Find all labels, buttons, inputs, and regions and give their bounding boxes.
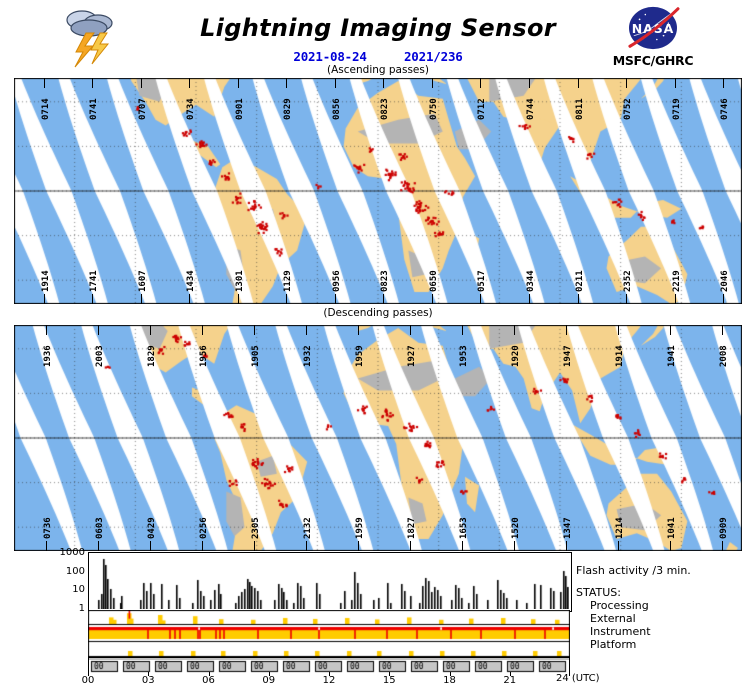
orbit-tick [514, 325, 515, 335]
nasa-branding: NASA MSFC/GHRC [598, 4, 708, 68]
legend-row-external: External [576, 612, 691, 625]
orbit-tick [578, 78, 579, 88]
orbit-time-label: 0429 [147, 517, 157, 539]
orbit-tick [44, 294, 45, 304]
legend-row-processing: Processing [576, 599, 691, 612]
ascending-passes-map[interactable]: 0714074107070734090108290856082307500712… [14, 78, 742, 304]
orbit-time-label: 2003 [95, 345, 105, 367]
platform-status-row[interactable] [88, 657, 570, 672]
orbit-time-label: 0829 [283, 98, 293, 120]
flash-activity-histogram[interactable] [88, 552, 572, 612]
orbit-tick [335, 78, 336, 88]
orbit-time-label: 0956 [332, 270, 342, 292]
orbit-tick [529, 78, 530, 88]
orbit-time-label: 0707 [138, 98, 148, 120]
orbit-time-label: 0741 [89, 98, 99, 120]
orbit-tick [383, 294, 384, 304]
time-axis-tick-label: 15 [383, 675, 396, 686]
orbit-time-label: 1936 [43, 345, 53, 367]
status-rows[interactable] [88, 610, 570, 657]
orbit-time-label: 0752 [623, 98, 633, 120]
orbit-time-label: 1914 [41, 270, 51, 292]
orbit-tick [626, 294, 627, 304]
orbit-time-label: 1653 [459, 517, 469, 539]
activity-panel: 1101001000 000306091215182124 Flash acti… [0, 548, 756, 680]
orbit-time-label: 0712 [477, 98, 487, 120]
orbit-time-label: 2008 [719, 345, 729, 367]
orbit-time-label: 0744 [526, 98, 536, 120]
descending-map-canvas[interactable] [14, 325, 742, 551]
orbit-tick [286, 78, 287, 88]
orbit-time-label: 0736 [43, 517, 53, 539]
orbit-tick [670, 325, 671, 335]
orbit-tick [675, 78, 676, 88]
orbit-tick [462, 325, 463, 335]
time-axis-tick-label: 21 [503, 675, 516, 686]
orbit-time-label: 1347 [563, 517, 573, 539]
orbit-tick [358, 325, 359, 335]
orbit-tick [675, 294, 676, 304]
observation-date: 2021-08-24 [293, 49, 366, 64]
orbit-time-label: 1434 [186, 270, 196, 292]
nasa-center-label: MSFC/GHRC [598, 53, 708, 68]
orbit-time-label: 1607 [138, 270, 148, 292]
orbit-time-label: 1914 [615, 345, 625, 367]
descending-passes-map[interactable]: 1936200318291956190519321959192719531920… [14, 325, 742, 551]
time-axis-tick-label: 12 [323, 675, 336, 686]
orbit-time-label: 0823 [380, 270, 390, 292]
orbit-tick [141, 294, 142, 304]
orbit-time-label: 0750 [429, 98, 439, 120]
orbit-tick [723, 294, 724, 304]
y-axis-tick-label: 10 [72, 584, 85, 595]
orbit-tick [722, 325, 723, 335]
legend-row-platform: Platform [576, 638, 691, 651]
y-axis-tick-label: 1 [79, 603, 85, 614]
time-axis-tick-label: 06 [202, 675, 215, 686]
status-canvas[interactable] [88, 610, 570, 657]
utc-axis-label: 24 (UTC) [556, 673, 600, 684]
orbit-time-label: 0811 [575, 98, 585, 120]
orbit-time-label: 1959 [355, 517, 365, 539]
orbit-time-label: 1932 [303, 345, 313, 367]
orbit-tick [238, 78, 239, 88]
time-axis-tick-label: 03 [142, 675, 155, 686]
orbit-tick [44, 78, 45, 88]
orbit-tick [286, 294, 287, 304]
orbit-time-label: 0909 [719, 517, 729, 539]
orbit-time-label: 1905 [251, 345, 261, 367]
orbit-time-label: 0719 [672, 98, 682, 120]
orbit-time-label: 2046 [720, 270, 730, 292]
orbit-tick [202, 325, 203, 335]
time-axis: 000306091215182124 [88, 672, 570, 686]
orbit-time-label: 1920 [511, 345, 521, 367]
orbit-tick [529, 294, 530, 304]
orbit-tick [723, 78, 724, 88]
orbit-tick [383, 78, 384, 88]
orbit-time-label: 0856 [332, 98, 342, 120]
nasa-logo-icon: NASA [624, 4, 682, 52]
orbit-tick [141, 78, 142, 88]
orbit-time-label: 2219 [672, 270, 682, 292]
orbit-time-label: 1953 [459, 345, 469, 367]
orbit-tick [480, 294, 481, 304]
orbit-time-label: 0650 [429, 270, 439, 292]
orbit-tick [189, 294, 190, 304]
panel-legend: Flash activity /3 min. STATUS: Processin… [576, 564, 691, 651]
time-axis-tick-label: 18 [443, 675, 456, 686]
orbit-time-label: 2132 [303, 517, 313, 539]
page-header: Lightning Imaging Sensor 2021-08-24 2021… [0, 0, 756, 78]
orbit-time-label: 0211 [575, 270, 585, 292]
orbit-tick [92, 294, 93, 304]
orbit-time-label: 0901 [235, 98, 245, 120]
orbit-time-label: 1301 [235, 270, 245, 292]
orbit-tick [626, 78, 627, 88]
orbit-time-label: 0603 [95, 517, 105, 539]
day-of-year: 2021/236 [404, 49, 463, 64]
orbit-tick [98, 325, 99, 335]
orbit-tick [578, 294, 579, 304]
orbit-time-label: 0344 [526, 270, 536, 292]
orbit-tick [480, 78, 481, 88]
orbit-time-label: 1956 [199, 345, 209, 367]
flash-histogram-canvas[interactable] [89, 553, 569, 609]
orbit-time-label: 1129 [283, 270, 293, 292]
time-axis-tick-label: 09 [262, 675, 275, 686]
orbit-tick [432, 78, 433, 88]
y-axis-tick-label: 1000 [60, 547, 85, 558]
orbit-time-label: 1520 [511, 517, 521, 539]
orbit-time-label: 0714 [41, 98, 51, 120]
orbit-time-label: 0746 [720, 98, 730, 120]
svg-text:NASA: NASA [632, 21, 675, 36]
orbit-tick [238, 294, 239, 304]
orbit-time-label: 0734 [186, 98, 196, 120]
orbit-tick [150, 325, 151, 335]
time-axis-tick-label: 00 [82, 675, 95, 686]
orbit-tick [254, 325, 255, 335]
y-axis-tick-label: 100 [66, 566, 85, 577]
orbit-time-label: 1959 [355, 345, 365, 367]
orbit-time-label: 1941 [667, 345, 677, 367]
flash-y-axis: 1101001000 [48, 548, 88, 614]
orbit-tick [410, 325, 411, 335]
orbit-time-label: 1741 [89, 270, 99, 292]
orbit-time-label: 1214 [615, 517, 625, 539]
orbit-time-label: 2305 [251, 517, 261, 539]
orbit-time-label: 0517 [477, 270, 487, 292]
orbit-tick [618, 325, 619, 335]
orbit-time-label: 1829 [147, 345, 157, 367]
orbit-tick [306, 325, 307, 335]
orbit-time-label: 1041 [667, 517, 677, 539]
orbit-tick [335, 294, 336, 304]
orbit-time-label: 0256 [199, 517, 209, 539]
orbit-tick [92, 78, 93, 88]
orbit-time-label: 1947 [563, 345, 573, 367]
legend-flash-label: Flash activity /3 min. [576, 564, 691, 577]
orbit-tick [432, 294, 433, 304]
legend-status-title: STATUS: [576, 586, 691, 599]
legend-row-instrument: Instrument [576, 625, 691, 638]
orbit-tick [46, 325, 47, 335]
orbit-time-label: 0823 [380, 98, 390, 120]
orbit-tick [189, 78, 190, 88]
orbit-tick [566, 325, 567, 335]
descending-passes-caption: (Descending passes) [0, 307, 756, 319]
orbit-time-label: 2352 [623, 270, 633, 292]
orbit-time-label: 1927 [407, 345, 417, 367]
orbit-time-label: 1827 [407, 517, 417, 539]
